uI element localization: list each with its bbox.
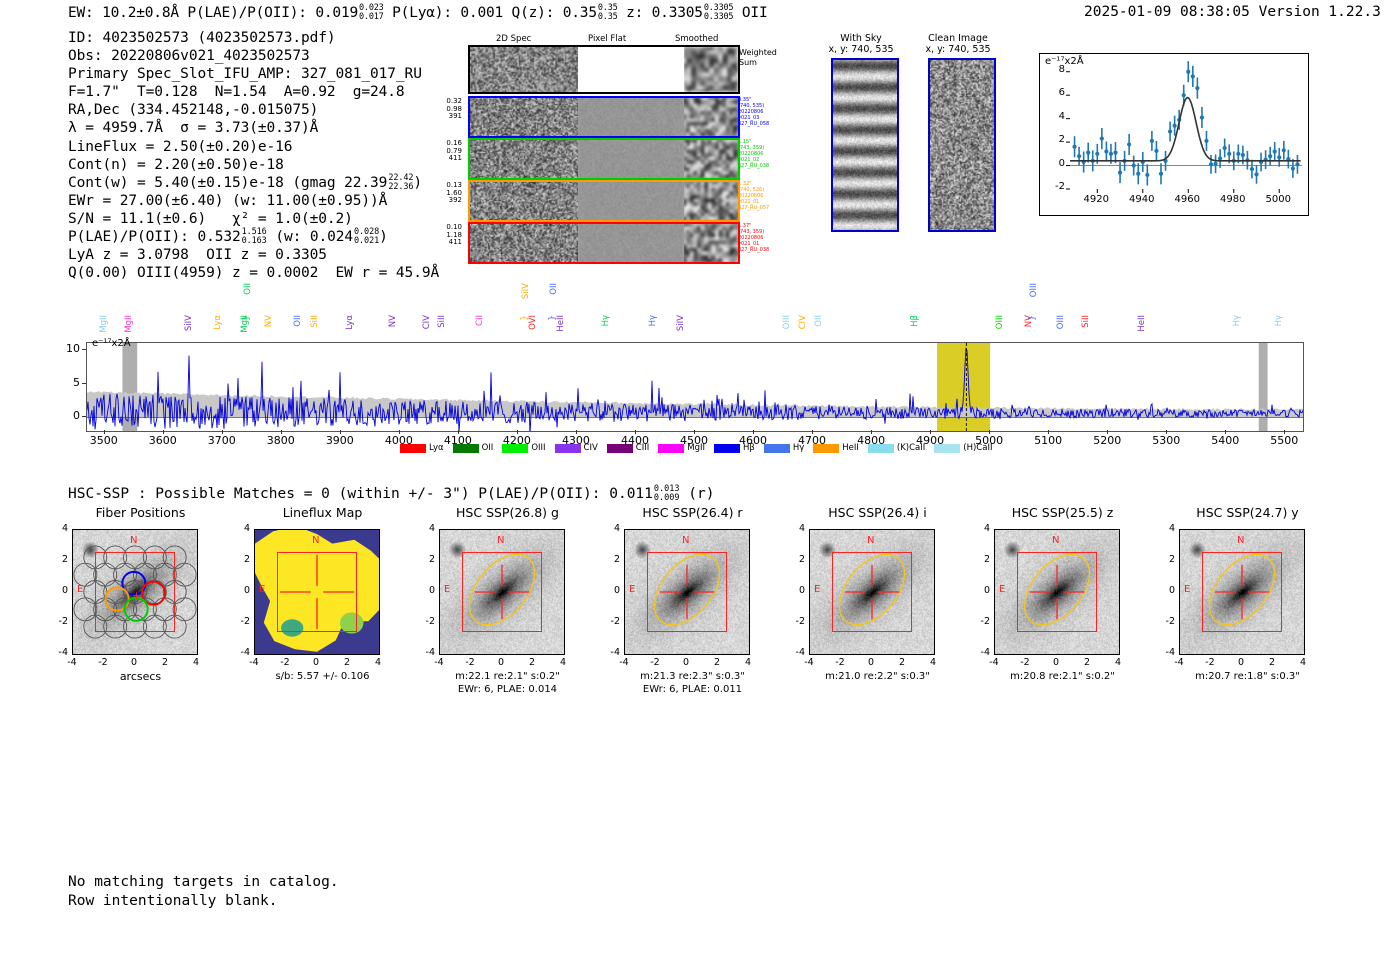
panel-ytick: -2 [419, 616, 435, 627]
panel-caption-1: s/b: 5.57 +/- 0.106 [230, 671, 415, 684]
panel-ytick: 4 [974, 523, 990, 534]
plae-w-bounds: 0.0280.021 [354, 228, 379, 246]
panel-ytick: 2 [974, 554, 990, 565]
lineplot-xtick: 4920 [1084, 194, 1109, 205]
emission-line-label: OII [814, 315, 824, 327]
cutout-name: Clean Image [903, 33, 1013, 44]
cutout-panel: Fiber Positions+NE-4-4-2-2002244arcsecs [48, 505, 233, 526]
info-obs: Obs: 20220806v021_4023502573 [68, 47, 439, 65]
panel-ytick: 2 [1159, 554, 1175, 565]
panel-xtick: 2 [899, 657, 905, 668]
panel-xtick: 0 [131, 657, 137, 668]
panel-xtick: 2 [1084, 657, 1090, 668]
east-marker: E [999, 584, 1005, 595]
panel-ytick: -2 [234, 616, 250, 627]
cutout-name: With Sky [806, 33, 916, 44]
panel-ytick: 4 [234, 523, 250, 534]
lineplot-ytick: -2 [1043, 181, 1065, 192]
panel-title: HSC SSP(26.4) r [600, 505, 785, 520]
lineplot-xtick: 4960 [1175, 194, 1200, 205]
strip-smoothed [684, 47, 738, 92]
strip-smoothed [684, 224, 738, 262]
spectrum-xtick-mark [576, 430, 577, 434]
panel-ytick: -4 [974, 647, 990, 658]
panel-title: HSC SSP(26.4) i [785, 505, 970, 520]
panel-ytick: -4 [604, 647, 620, 658]
panel-ytick: 2 [234, 554, 250, 565]
north-marker: N [312, 535, 319, 546]
strip-2dspec [470, 47, 578, 92]
east-marker: E [259, 584, 265, 595]
panel-xtick: 0 [498, 657, 504, 668]
legend-item: (H)CaII [934, 443, 992, 453]
north-marker: N [682, 535, 689, 546]
panel-caption-1: m:20.7 re:1.8" s:0.3" [1155, 671, 1340, 684]
header-ew-plae: EW: 10.2±0.8Å P(LAE)/P(OII): 0.019 [68, 5, 358, 21]
cutout-image[interactable] [928, 58, 996, 232]
spectrum-xtick: 3900 [326, 434, 354, 447]
spectrum-xtick-mark [222, 430, 223, 434]
lineplot-ytick: 2 [1043, 134, 1065, 145]
cutout-title: With Skyx, y: 740, 535 [806, 33, 916, 55]
header-z: z: 0.3305 [626, 5, 703, 21]
panel-ytick: 0 [234, 585, 250, 596]
panel-ytick: 4 [1159, 523, 1175, 534]
spectrum-xtick-mark [458, 430, 459, 434]
legend-item: Hβ [714, 443, 755, 453]
emission-line-brace: { [546, 315, 556, 321]
panel-image[interactable] [254, 529, 380, 655]
fiber-meta: 1.37" (743, 359) 20220806 v021_01 327_RU… [738, 223, 786, 253]
strip-pixelflat [580, 224, 682, 262]
header-metrics-line: EW: 10.2±0.8Å P(LAE)/P(OII): 0.0190.0230… [68, 4, 767, 22]
lineplot-xtick: 4980 [1220, 194, 1245, 205]
lineplot-ytick: 4 [1043, 111, 1065, 122]
legend-item: Hγ [764, 443, 804, 453]
info-plae-ratio: P(LAE)/P(OII): 0.5321.5160.163 (w: 0.024… [68, 228, 439, 246]
spectrum-xtick: 3800 [267, 434, 295, 447]
emission-line-brace: { [518, 315, 528, 321]
legend-swatch [868, 444, 894, 453]
spectrum-xtick-mark [1225, 430, 1226, 434]
emission-line-brace: { [240, 315, 250, 321]
fiber-metrics: 0.10 1.18 411 [430, 224, 462, 247]
emission-line-label: Hγ [601, 315, 611, 326]
north-marker: N [1237, 535, 1244, 546]
legend-swatch [502, 444, 528, 453]
panel-xtick: 2 [529, 657, 535, 668]
panel-ytick: 4 [789, 523, 805, 534]
emission-line-label: OVI [528, 315, 538, 330]
lineplot-ytick: 8 [1043, 64, 1065, 75]
panel-ytick: 2 [604, 554, 620, 565]
emission-line-fit-plot: e⁻¹⁷x2Å [1039, 53, 1309, 216]
strip-pixelflat [580, 98, 682, 136]
spectrum-xtick-mark [989, 430, 990, 434]
legend-item: (K)CaII [868, 443, 925, 453]
fiber-meta: 0.35" (740, 535) 20220806 v021_03 327_RU… [738, 97, 786, 127]
emission-line-label: OIII [1056, 315, 1066, 329]
panel-ytick: -2 [789, 616, 805, 627]
panel-title: HSC SSP(25.5) z [970, 505, 1155, 520]
panel-ytick: -2 [1159, 616, 1175, 627]
east-marker: E [77, 584, 83, 595]
strip-pixelflat [580, 182, 682, 220]
cutout-image[interactable] [831, 58, 899, 232]
panel-xtick: -2 [280, 657, 289, 668]
spectrum-xtick-mark [163, 430, 164, 434]
spectrum-xtick-mark [753, 430, 754, 434]
east-marker: E [814, 584, 820, 595]
strip-2dspec [470, 182, 578, 220]
emission-line-label: Hγ [648, 315, 658, 326]
panel-xtick: -4 [434, 657, 443, 668]
panel-ytick: -4 [789, 647, 805, 658]
emission-line-label: Hγ [1232, 315, 1242, 326]
emission-line-label: CIV [422, 315, 432, 329]
twod-fiber-row[interactable] [468, 222, 740, 264]
panel-xtick: 4 [193, 657, 199, 668]
emission-line-label: OII [549, 283, 559, 295]
panel-xtick: -2 [835, 657, 844, 668]
spectrum-xtick-mark [635, 430, 636, 434]
cutout-title: Clean Imagex, y: 740, 535 [903, 33, 1013, 55]
north-marker: N [867, 535, 874, 546]
emission-line-label: CII [475, 315, 485, 326]
panel-xtick: -2 [465, 657, 474, 668]
emission-line-label: NV [388, 315, 398, 327]
panel-xtick: -4 [1174, 657, 1183, 668]
info-sn-chi2: S/N = 11.1(±0.6) χ² = 1.0(±0.2) [68, 210, 439, 228]
emission-line-label: Hγ [1274, 315, 1284, 326]
north-marker: N [1052, 535, 1059, 546]
panel-ytick: 0 [974, 585, 990, 596]
info-radec: RA,Dec (334.452148,-0.015075) [68, 101, 439, 119]
panel-xtick: 2 [162, 657, 168, 668]
panel-xtick: 0 [868, 657, 874, 668]
panel-image[interactable] [624, 529, 750, 655]
info-wavelength: λ = 4959.7Å σ = 3.73(±0.37)Å [68, 119, 439, 137]
full-spectrum-panel: MgII{MgII{SiIV{Lyα{MgII{NV{OII{SiII{Lyα{… [0, 268, 1400, 468]
legend-swatch [607, 444, 633, 453]
emission-line-label: HeII [1137, 315, 1147, 332]
strip-pixelflat [580, 47, 682, 92]
legend-item: CIII [607, 443, 649, 453]
emission-line-label: OII [243, 283, 253, 295]
panel-ytick: -4 [419, 647, 435, 658]
emission-line-label: SiII [1081, 315, 1091, 328]
col-header-pixelflat: Pixel Flat [588, 34, 626, 44]
emission-line-label: HeII [556, 315, 566, 332]
hsc-summary-text: HSC-SSP : Possible Matches = 0 (within +… [68, 486, 653, 502]
emission-line-label: OIII [1029, 283, 1039, 297]
twod-fiber-row[interactable] [468, 96, 740, 138]
panel-xtick: -4 [67, 657, 76, 668]
cutout-panel: Lineflux MapNE-4-4-2-2002244s/b: 5.57 +/… [230, 505, 415, 526]
strip-2dspec [470, 140, 578, 178]
panel-xtick: 0 [1053, 657, 1059, 668]
emission-line-label: SiIV [521, 283, 531, 299]
emission-line-label: MgII [124, 315, 134, 333]
emission-line-label: OII [293, 315, 303, 327]
panel-xtick: 0 [683, 657, 689, 668]
north-marker: N [497, 535, 504, 546]
lineplot-xtick: 5000 [1266, 194, 1291, 205]
emission-line-label: Lyα [345, 315, 355, 330]
panel-xtick: 4 [560, 657, 566, 668]
info-lineflux: LineFlux = 2.50(±0.20)e-16 [68, 138, 439, 156]
panel-xtick: -4 [249, 657, 258, 668]
legend-item: Lyα [400, 443, 444, 453]
fiber-metrics: 0.13 1.60 392 [430, 182, 462, 205]
panel-ytick: 0 [1159, 585, 1175, 596]
strip-smoothed [684, 182, 738, 220]
fiber-meta: 1.15" (743, 359) 20220806 v021_02 327_RU… [738, 139, 786, 169]
spectrum-xtick-mark [930, 430, 931, 434]
spectrum-xtick-mark [1107, 430, 1108, 434]
legend-swatch [934, 444, 960, 453]
legend-item: OIII [502, 443, 545, 453]
spectrum-xtick-mark [812, 430, 813, 434]
panel-caption-2: EWr: 6, PLAE: 0.014 [415, 684, 600, 697]
header-timestamp-version: 2025-01-09 08:38:05 Version 1.22.3 [1084, 4, 1381, 20]
panel-xtick: -2 [1205, 657, 1214, 668]
legend-swatch [555, 444, 581, 453]
north-marker: N [130, 535, 137, 546]
spectrum-legend: LyαOIIOIIICIVCIIIMgIIHβHγHeII(K)CaII(H)C… [400, 443, 992, 453]
strip-2dspec [470, 224, 578, 262]
legend-label: (H)CaII [963, 443, 992, 453]
panel-xtick: 4 [1115, 657, 1121, 668]
panel-ytick: 2 [789, 554, 805, 565]
panel-ytick: 0 [789, 585, 805, 596]
emission-line-label: SiIV [676, 315, 686, 331]
emission-line-brace: { [1026, 315, 1036, 321]
spectrum-xtick-mark [1284, 430, 1285, 434]
info-primary-spec: Primary Spec_Slot_IFU_AMP: 327_081_017_R… [68, 65, 439, 83]
panel-image[interactable] [1179, 529, 1305, 655]
emission-line-label: OIII [782, 315, 792, 329]
panel-ytick: -4 [52, 647, 68, 658]
strip-smoothed [684, 140, 738, 178]
panel-title: HSC SSP(26.8) g [415, 505, 600, 520]
plae-bounds: 0.0230.017 [359, 4, 384, 22]
fiber-metrics: 0.32 0.98 391 [430, 98, 462, 121]
spectrum-ytick: 5 [58, 376, 80, 389]
panel-caption-1: m:21.3 re:2.3" s:0.3" [600, 671, 785, 684]
spectrum-xtick-mark [1166, 430, 1167, 434]
info-id: ID: 4023502573 (4023502573.pdf) [68, 29, 439, 47]
panel-xtick: 4 [1300, 657, 1306, 668]
panel-xlabel: arcsecs [48, 671, 233, 684]
panel-xtick: 2 [344, 657, 350, 668]
panel-ytick: 0 [52, 585, 68, 596]
info-cont-n: Cont(n) = 2.20(±0.50)e-18 [68, 156, 439, 174]
panel-xtick: -4 [804, 657, 813, 668]
fiber-metrics: 0.16 0.79 411 [430, 140, 462, 163]
panel-ytick: 2 [419, 554, 435, 565]
spectrum-units-label: e⁻¹⁷x2Å [92, 338, 131, 349]
panel-caption-1: m:21.0 re:2.2" s:0.3" [785, 671, 970, 684]
legend-swatch [764, 444, 790, 453]
panel-xtick: 4 [930, 657, 936, 668]
spectrum-ytick: 10 [58, 342, 80, 355]
east-marker: E [444, 584, 450, 595]
cutout-panel: HSC SSP(26.8) gNE-4-4-2-2002244m:22.1 re… [415, 505, 600, 526]
panel-xtick: 2 [1269, 657, 1275, 668]
z-bounds: 0.33050.3305 [704, 4, 734, 22]
legend-item: MgII [658, 443, 705, 453]
fiber-meta: 1.32" (740, 526) 20220806 v021_01 327_RU… [738, 181, 786, 211]
east-marker: E [1184, 584, 1190, 595]
lineplot-ytick: 6 [1043, 87, 1065, 98]
strip-smoothed [684, 98, 738, 136]
spectrum-xtick-mark [281, 430, 282, 434]
panel-image[interactable]: + [72, 529, 198, 655]
spectrum-ytick-mark [82, 349, 86, 350]
panel-caption-1: m:22.1 re:2.1" s:0.2" [415, 671, 600, 684]
emission-line-label: Hβ [910, 315, 920, 327]
panel-ytick: -4 [234, 647, 250, 658]
info-cont-w: Cont(w) = 5.40(±0.15)e-18 (gmag 22.3922.… [68, 174, 439, 192]
emission-line-label: SiIV [184, 315, 194, 331]
gmag-bounds: 22.4222.36 [388, 174, 413, 192]
weighted-sum-label: Weighted Sum [739, 48, 777, 68]
col-header-2dspec: 2D Spec [496, 34, 531, 44]
cutout-panel: HSC SSP(25.5) zNE-4-4-2-2002244m:20.8 re… [970, 505, 1155, 526]
panel-xtick: -2 [1020, 657, 1029, 668]
header-ztype: OII [742, 5, 768, 21]
legend-swatch [400, 444, 426, 453]
panel-xtick: 0 [1238, 657, 1244, 668]
plae-ratio-bounds: 1.5160.163 [242, 228, 267, 246]
spectrum-xtick: 5100 [1034, 434, 1062, 447]
emission-line-label: Lyα [213, 315, 223, 330]
panel-title: Lineflux Map [230, 505, 415, 520]
legend-label: Hγ [793, 443, 804, 453]
panel-ytick: -4 [1159, 647, 1175, 658]
panel-caption-1: m:20.8 re:2.1" s:0.2" [970, 671, 1155, 684]
qz-bounds: 0.350.35 [598, 4, 618, 22]
info-redshifts: LyA z = 3.0798 OII z = 0.3305 [68, 246, 439, 264]
spectrum-plot-area [86, 342, 1304, 432]
panel-image[interactable] [809, 529, 935, 655]
legend-swatch [813, 444, 839, 453]
panel-xtick: 0 [313, 657, 319, 668]
cutout-coords: x, y: 740, 535 [806, 44, 916, 55]
twod-fiber-row[interactable] [468, 180, 740, 222]
legend-swatch [658, 444, 684, 453]
spectrum-xtick: 3500 [90, 434, 118, 447]
info-seeing: F=1.7" T=0.128 N=1.54 A=0.92 g=24.8 [68, 83, 439, 101]
legend-label: OII [482, 443, 494, 453]
panel-ytick: 4 [419, 523, 435, 534]
cutout-coords: x, y: 740, 535 [903, 44, 1013, 55]
cutout-panel: HSC SSP(26.4) iNE-4-4-2-2002244m:21.0 re… [785, 505, 970, 526]
cutout-panel: HSC SSP(24.7) yNE-4-4-2-2002244m:20.7 re… [1155, 505, 1340, 526]
panel-xtick: -4 [619, 657, 628, 668]
legend-label: MgII [687, 443, 705, 453]
spectrum-xtick-mark [340, 430, 341, 434]
footer-note: No matching targets in catalog. Row inte… [68, 873, 339, 910]
panel-ytick: 0 [604, 585, 620, 596]
spectrum-xtick: 5400 [1211, 434, 1239, 447]
panel-xtick: -4 [989, 657, 998, 668]
legend-item: OII [453, 443, 494, 453]
legend-swatch [714, 444, 740, 453]
panel-ytick: 4 [604, 523, 620, 534]
strip-pixelflat [580, 140, 682, 178]
col-header-smoothed: Smoothed [675, 34, 718, 44]
legend-label: Lyα [429, 443, 444, 453]
emission-line-label: SiII [437, 315, 447, 328]
legend-label: HeII [842, 443, 859, 453]
hsc-summary-line: HSC-SSP : Possible Matches = 0 (within +… [68, 485, 714, 503]
spectrum-xtick-mark [399, 430, 400, 434]
emission-line-label: CIV [798, 315, 808, 329]
legend-label: (K)CaII [897, 443, 925, 453]
strip-2dspec [470, 98, 578, 136]
twod-spec-panel: 2D Spec Pixel Flat Smoothed Weighted Sum… [432, 34, 762, 259]
footer-line-1: No matching targets in catalog. [68, 873, 339, 892]
spectrum-ytick: 0 [58, 409, 80, 422]
legend-item: HeII [813, 443, 859, 453]
emission-line-label: NV [264, 315, 274, 327]
panel-ytick: 4 [52, 523, 68, 534]
hsc-band: (r) [688, 486, 714, 502]
panel-xtick: 2 [714, 657, 720, 668]
cutout-panel: HSC SSP(26.4) rNE-4-4-2-2002244m:21.3 re… [600, 505, 785, 526]
spectrum-xtick-mark [694, 430, 695, 434]
east-marker: E [629, 584, 635, 595]
panel-title: HSC SSP(24.7) y [1155, 505, 1340, 520]
panel-xtick: -2 [98, 657, 107, 668]
spectrum-xtick: 5500 [1270, 434, 1298, 447]
panel-ytick: -2 [604, 616, 620, 627]
panel-xtick: 4 [375, 657, 381, 668]
lineplot-xtick: 4940 [1129, 194, 1154, 205]
panel-caption-2: EWr: 6, PLAE: 0.011 [600, 684, 785, 697]
twod-weighted-sum-row [468, 45, 740, 94]
spectrum-xtick: 3600 [149, 434, 177, 447]
footer-line-2: Row intentionally blank. [68, 892, 339, 911]
panel-ytick: 2 [52, 554, 68, 565]
spectrum-xtick: 3700 [208, 434, 236, 447]
spectrum-xtick-mark [1048, 430, 1049, 434]
spectrum-xtick-mark [104, 430, 105, 434]
header-plya-qz: P(Lyα): 0.001 Q(z): 0.35 [392, 5, 597, 21]
panel-xtick: -2 [650, 657, 659, 668]
legend-label: CIII [636, 443, 649, 453]
panel-image[interactable] [994, 529, 1120, 655]
spectrum-xtick-mark [517, 430, 518, 434]
emission-line-label: MgII [99, 315, 109, 333]
panel-ytick: -2 [52, 616, 68, 627]
info-ewr: EWr = 27.00(±6.40) (w: 11.00(±0.95))Å [68, 192, 439, 210]
panel-image[interactable] [439, 529, 565, 655]
twod-fiber-row[interactable] [468, 138, 740, 180]
source-info-block: ID: 4023502573 (4023502573.pdf) Obs: 202… [68, 29, 439, 282]
spectrum-xtick: 5300 [1152, 434, 1180, 447]
spectrum-xtick-mark [871, 430, 872, 434]
legend-label: Hβ [743, 443, 755, 453]
spectrum-ytick-mark [82, 383, 86, 384]
emission-line-label: SiII [310, 315, 320, 328]
panel-title: Fiber Positions [48, 505, 233, 520]
emission-line-label: OIII [995, 315, 1005, 329]
panel-ytick: -2 [974, 616, 990, 627]
hsc-plae-bounds: 0.0130.009 [654, 485, 680, 503]
